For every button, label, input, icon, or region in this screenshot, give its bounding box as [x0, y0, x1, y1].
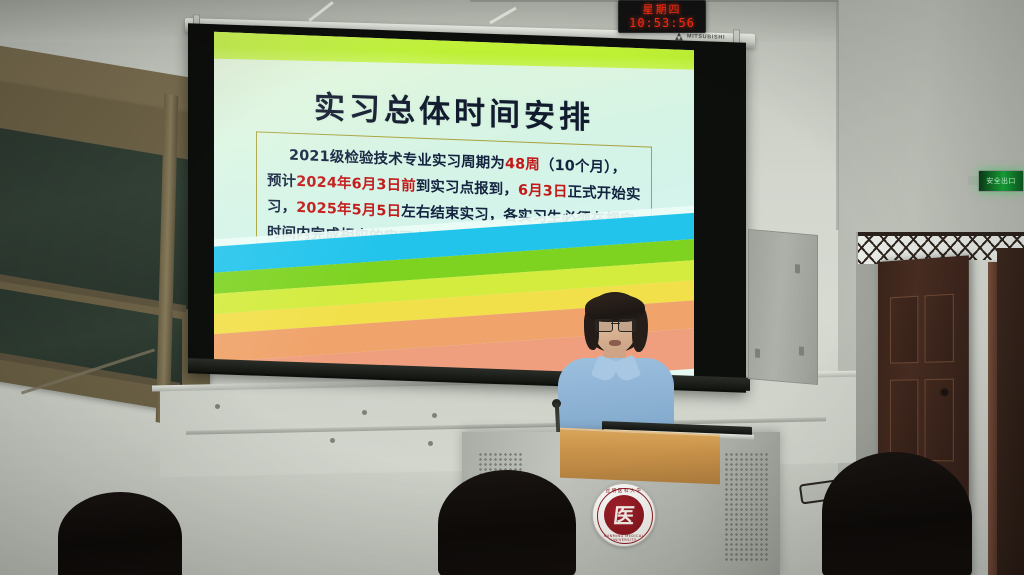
door-panel — [890, 379, 918, 461]
slide-highlight-text: 2024年6月3日前 — [296, 174, 416, 195]
university-emblem: 昆明医科大学 医 KUNMING MEDICAL UNIVERSITY — [592, 483, 656, 547]
slide-plain-text: 习， — [267, 199, 296, 216]
exit-sign-label: 安全出口 — [979, 171, 1023, 191]
presenter-mouth — [609, 340, 621, 346]
brand-text: MITSUBISHI — [687, 34, 725, 41]
presenter-hair-front — [585, 294, 645, 322]
presenter — [540, 292, 690, 442]
glasses-lens-left — [595, 319, 613, 332]
audience-head-left — [58, 492, 182, 575]
clock-time: 10:53:56 — [629, 16, 695, 30]
emblem-glyph: 医 — [602, 495, 647, 535]
cabinet-latch[interactable] — [755, 349, 760, 358]
classroom-photo-scene: 实习总体时间安排 2021级检验技术专业实习周期为48周（10个月）， 预计20… — [0, 0, 1024, 575]
panel-screw — [428, 441, 433, 446]
slide-plain-text: 预计 — [267, 173, 296, 190]
slide-plain-text: 2021级检验技术专业实习周期为 — [289, 148, 505, 172]
slide-highlight-text: 48周 — [505, 156, 540, 173]
glasses-icon — [595, 319, 636, 330]
slide-highlight-text: 6月3日 — [518, 182, 568, 200]
slide-highlight-text: 2025年5月5日 — [296, 200, 401, 220]
panel-screw — [330, 438, 335, 443]
emblem-top-text: 昆明医科大学 — [593, 488, 655, 494]
mitsubishi-diamond-icon — [675, 32, 684, 40]
emergency-exit-sign: 安全出口 — [978, 170, 1024, 192]
door-panel — [925, 379, 954, 462]
wall-utility-cabinet[interactable] — [748, 229, 818, 385]
glasses-lens-right — [618, 319, 636, 332]
digital-clock: 星期四 10:53:56 — [618, 0, 706, 33]
podium-speaker-grille-right — [724, 452, 770, 562]
door-panel — [925, 294, 954, 363]
far-door-panel — [997, 248, 1024, 575]
cabinet-latch[interactable] — [795, 264, 800, 273]
cabinet-latch[interactable] — [799, 346, 804, 355]
slide-plain-text: 正式开始实 — [568, 184, 641, 203]
panel-screw — [362, 410, 367, 415]
door-jamb — [988, 262, 997, 575]
projector-brand-label: MITSUBISHI — [675, 32, 725, 42]
door-panel — [890, 296, 918, 364]
panel-screw — [215, 404, 220, 409]
podium-wood-front — [560, 428, 720, 485]
wall-corner-seam — [836, 0, 839, 230]
slide-plain-text: （10个月）， — [540, 157, 626, 176]
clock-weekday: 星期四 — [643, 4, 682, 16]
slide-plain-text: 到实习点报到， — [416, 179, 518, 199]
emblem-bottom-text: KUNMING MEDICAL UNIVERSITY — [593, 534, 655, 542]
panel-screw — [432, 413, 437, 418]
door-knob[interactable] — [941, 389, 947, 395]
audience-head-center — [438, 470, 576, 575]
